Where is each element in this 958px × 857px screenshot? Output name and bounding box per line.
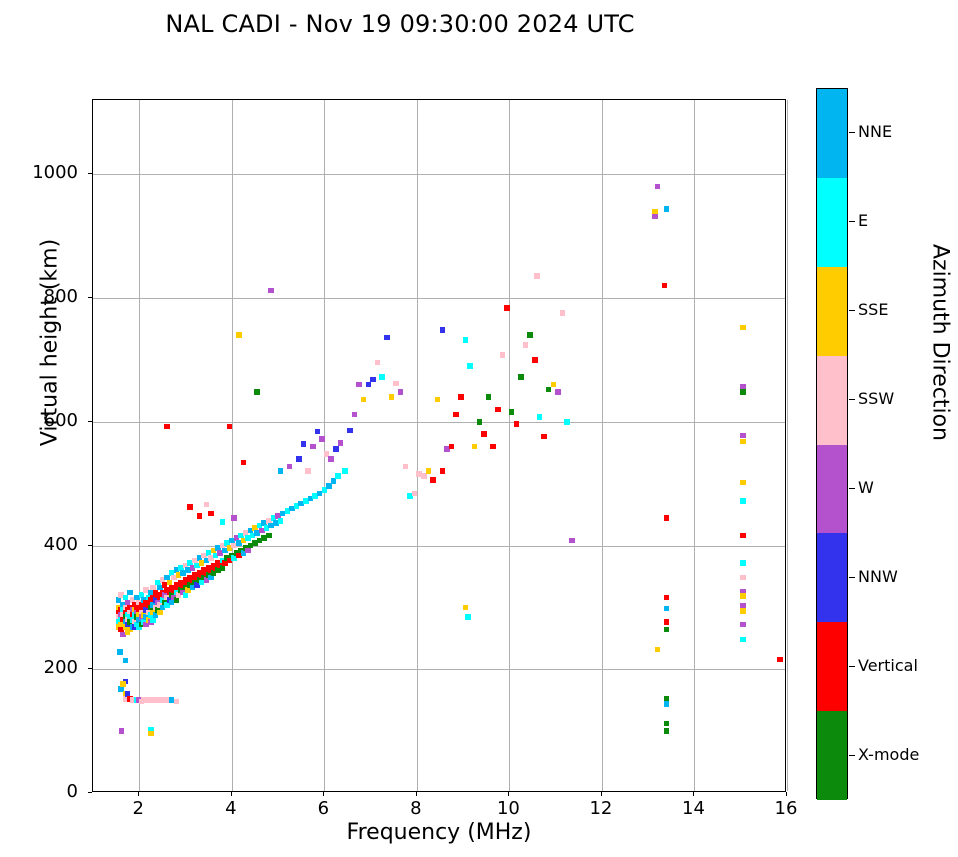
x-tick [416, 792, 417, 796]
data-point [174, 699, 180, 705]
colorbar-label-nnw: NNW [858, 567, 898, 586]
data-point [335, 473, 341, 479]
x-tick [601, 792, 602, 796]
data-point [347, 428, 353, 434]
data-point [490, 444, 496, 450]
x-tick-label: 8 [386, 798, 446, 819]
page-title: NAL CADI - Nov 19 09:30:00 2024 UTC [0, 10, 800, 38]
data-point [440, 468, 446, 474]
data-point [534, 273, 540, 279]
scatter-points [93, 100, 785, 791]
data-point [403, 464, 409, 470]
data-point [740, 593, 746, 599]
y-tick [88, 668, 92, 669]
data-point [481, 431, 487, 437]
colorbar-segment-w [817, 445, 847, 534]
data-point [740, 608, 746, 614]
data-point [412, 491, 418, 497]
data-point [319, 436, 325, 442]
data-point [486, 394, 492, 400]
data-point [777, 657, 783, 663]
data-point [740, 533, 746, 539]
data-point [148, 731, 154, 737]
colorbar-segment-nne [817, 89, 847, 178]
colorbar-segment-vertical [817, 622, 847, 711]
x-tick-label: 4 [201, 798, 261, 819]
data-point [197, 513, 203, 519]
data-point [236, 332, 242, 338]
plot-area [92, 99, 786, 792]
data-point [664, 595, 670, 601]
data-point [379, 374, 385, 380]
colorbar-segment-sse [817, 267, 847, 356]
colorbar-tick [849, 755, 855, 756]
colorbar-label-x-mode: X-mode [858, 745, 919, 764]
colorbar-tick [849, 399, 855, 400]
y-tick [88, 421, 92, 422]
data-point [328, 456, 334, 462]
data-point [245, 548, 251, 554]
data-point [361, 397, 367, 403]
data-point [504, 305, 510, 311]
data-point [655, 184, 661, 190]
data-point [301, 441, 307, 447]
colorbar-segment-ssw [817, 356, 847, 445]
data-point [740, 433, 746, 439]
y-tick-label: 1000 [8, 162, 78, 183]
colorbar-label-vertical: Vertical [858, 656, 918, 675]
y-tick-label: 0 [8, 781, 78, 802]
data-point [740, 389, 746, 395]
x-tick-label: 14 [663, 798, 723, 819]
y-tick [88, 173, 92, 174]
colorbar-label-sse: SSE [858, 300, 888, 319]
data-point [287, 464, 293, 470]
data-point [208, 575, 214, 581]
data-point [164, 424, 170, 430]
data-point [740, 325, 746, 331]
data-point [231, 515, 237, 521]
data-point [342, 468, 348, 474]
data-point [393, 381, 399, 387]
data-point [527, 332, 533, 338]
x-tick-label: 16 [756, 798, 816, 819]
data-point [740, 560, 746, 566]
data-point [315, 429, 321, 435]
data-point [421, 473, 427, 479]
y-tick [88, 297, 92, 298]
colorbar-segment-nnw [817, 533, 847, 622]
colorbar-label-ssw: SSW [858, 389, 894, 408]
x-tick [138, 792, 139, 796]
x-tick [323, 792, 324, 796]
data-point [518, 374, 524, 380]
colorbar-segment-x-mode [817, 711, 847, 800]
data-point [532, 357, 538, 363]
colorbar-tick [849, 666, 855, 667]
data-point [509, 409, 515, 415]
x-tick [786, 792, 787, 796]
data-point [523, 342, 529, 348]
data-point [435, 397, 441, 403]
data-point [440, 327, 446, 333]
data-point [254, 389, 260, 395]
data-point [514, 421, 520, 427]
ionogram-figure: NAL CADI - Nov 19 09:30:00 2024 UTC 2468… [0, 0, 958, 857]
data-point [453, 412, 459, 418]
colorbar-label-w: W [858, 478, 874, 497]
data-point [227, 424, 233, 430]
data-point [120, 681, 126, 687]
data-point [333, 446, 339, 452]
x-tick [231, 792, 232, 796]
data-point [495, 407, 501, 413]
data-point [220, 519, 226, 525]
x-tick [693, 792, 694, 796]
data-point [338, 440, 344, 446]
data-point [384, 335, 390, 341]
data-point [463, 605, 469, 611]
data-point [500, 352, 506, 358]
data-point [564, 419, 570, 425]
data-point [740, 439, 746, 445]
data-point [472, 444, 478, 450]
data-point [174, 597, 180, 603]
colorbar [816, 88, 848, 799]
data-point [331, 478, 337, 484]
data-point [119, 728, 125, 734]
colorbar-label-nne: NNE [858, 122, 892, 141]
x-tick [508, 792, 509, 796]
colorbar-segment-e [817, 178, 847, 267]
data-point [278, 518, 284, 524]
data-point [204, 502, 210, 508]
data-point [740, 575, 746, 581]
data-point [463, 337, 469, 343]
data-point [375, 360, 381, 366]
data-point [664, 515, 670, 521]
data-point [664, 619, 670, 625]
data-point [664, 206, 670, 212]
data-point [664, 728, 670, 734]
data-point [389, 394, 395, 400]
data-point [208, 511, 214, 517]
data-point [664, 627, 670, 633]
data-point [467, 363, 473, 369]
data-point [127, 590, 133, 596]
data-point [398, 389, 404, 395]
data-point [426, 468, 432, 474]
colorbar-title: Azimuth Direction [928, 193, 953, 493]
data-point [477, 419, 483, 425]
data-point [220, 565, 226, 571]
data-point [664, 721, 670, 727]
y-axis-label: Virtual height (km) [38, 193, 63, 493]
data-point [740, 622, 746, 628]
data-point [652, 214, 658, 220]
gridline-vertical [787, 100, 788, 791]
data-point [268, 288, 274, 294]
x-tick-label: 12 [571, 798, 631, 819]
data-point [305, 468, 311, 474]
data-point [655, 647, 661, 653]
data-point [560, 310, 566, 316]
data-point [296, 456, 302, 462]
y-tick [88, 792, 92, 793]
colorbar-tick [849, 577, 855, 578]
data-point [356, 382, 362, 388]
y-tick-label: 400 [8, 534, 78, 555]
colorbar-tick [849, 221, 855, 222]
x-tick-label: 2 [108, 798, 168, 819]
data-point [537, 414, 543, 420]
data-point [310, 444, 316, 450]
data-point [551, 382, 557, 388]
data-point [370, 377, 376, 383]
data-point [183, 592, 189, 598]
data-point [326, 483, 332, 489]
colorbar-label-e: E [858, 211, 868, 230]
data-point [430, 477, 436, 483]
y-tick [88, 545, 92, 546]
data-point [555, 389, 561, 395]
data-point [241, 460, 247, 466]
data-point [123, 658, 129, 664]
x-tick-label: 10 [478, 798, 538, 819]
data-point [465, 614, 471, 620]
data-point [664, 606, 670, 612]
data-point [449, 444, 455, 450]
x-tick-label: 6 [293, 798, 353, 819]
data-point [662, 283, 668, 289]
colorbar-tick [849, 132, 855, 133]
colorbar-tick [849, 310, 855, 311]
colorbar-tick [849, 488, 855, 489]
data-point [740, 480, 746, 486]
x-axis-label: Frequency (MHz) [92, 820, 786, 845]
data-point [458, 394, 464, 400]
data-point [157, 610, 163, 616]
data-point [187, 504, 193, 510]
data-point [266, 533, 272, 539]
data-point [541, 434, 547, 440]
data-point [278, 468, 284, 474]
data-point [740, 637, 746, 643]
data-point [546, 387, 552, 393]
data-point [664, 701, 670, 707]
data-point [117, 649, 123, 655]
data-point [740, 498, 746, 504]
data-point [150, 617, 156, 623]
data-point [366, 382, 372, 388]
data-point [569, 538, 575, 544]
data-point [352, 412, 358, 418]
y-tick-label: 200 [8, 657, 78, 678]
